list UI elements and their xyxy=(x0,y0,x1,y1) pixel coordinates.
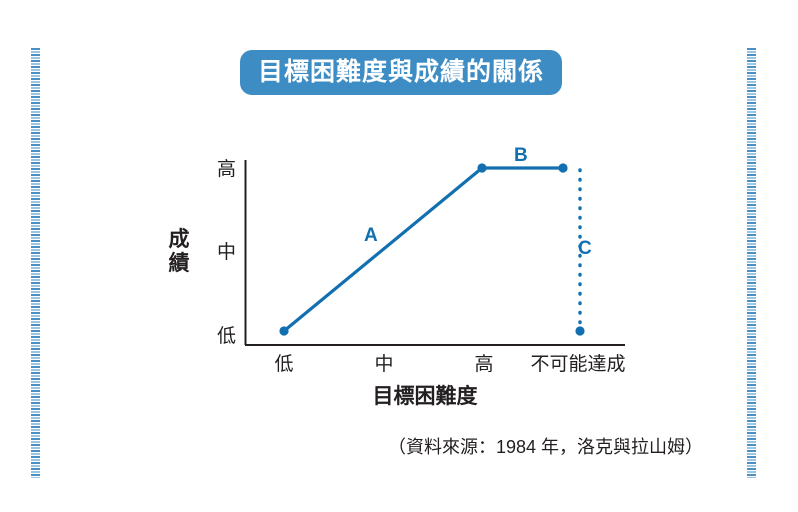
y-axis-title-char-2: 績 xyxy=(156,252,202,276)
data-point-marker xyxy=(279,326,288,335)
series-label-a: A xyxy=(364,226,378,245)
y-tick-label: 低 xyxy=(196,327,236,346)
chart-area: 高 中 低 低 中 高 不可能達成 成 績 目標困難度 A B C xyxy=(0,0,798,512)
x-tick-label-impossible: 不可能達成 xyxy=(530,355,625,374)
y-tick-label: 中 xyxy=(196,243,236,262)
y-axis-title: 成 績 xyxy=(156,228,202,275)
series-label-c: C xyxy=(578,239,592,258)
series-label-b: B xyxy=(514,146,528,165)
data-point-marker xyxy=(477,163,486,172)
source-caption: （資料來源：1984 年，洛克與拉山姆） xyxy=(388,438,703,456)
decorative-right-stripe-bar xyxy=(747,48,756,478)
y-tick-label: 高 xyxy=(196,160,236,179)
x-tick-label-medium: 中 xyxy=(374,355,393,374)
x-tick-label-high: 高 xyxy=(474,355,493,374)
data-point-marker xyxy=(558,163,567,172)
y-axis-title-char-1: 成 xyxy=(156,228,202,252)
figure-canvas: 目標困難度與成績的關係 高 中 低 xyxy=(0,0,798,512)
chart-plot-svg xyxy=(0,0,798,512)
data-point-marker xyxy=(575,326,584,335)
series-line-a xyxy=(284,168,482,331)
x-tick-label-low: 低 xyxy=(274,355,293,374)
x-axis-title: 目標困難度 xyxy=(345,386,505,407)
